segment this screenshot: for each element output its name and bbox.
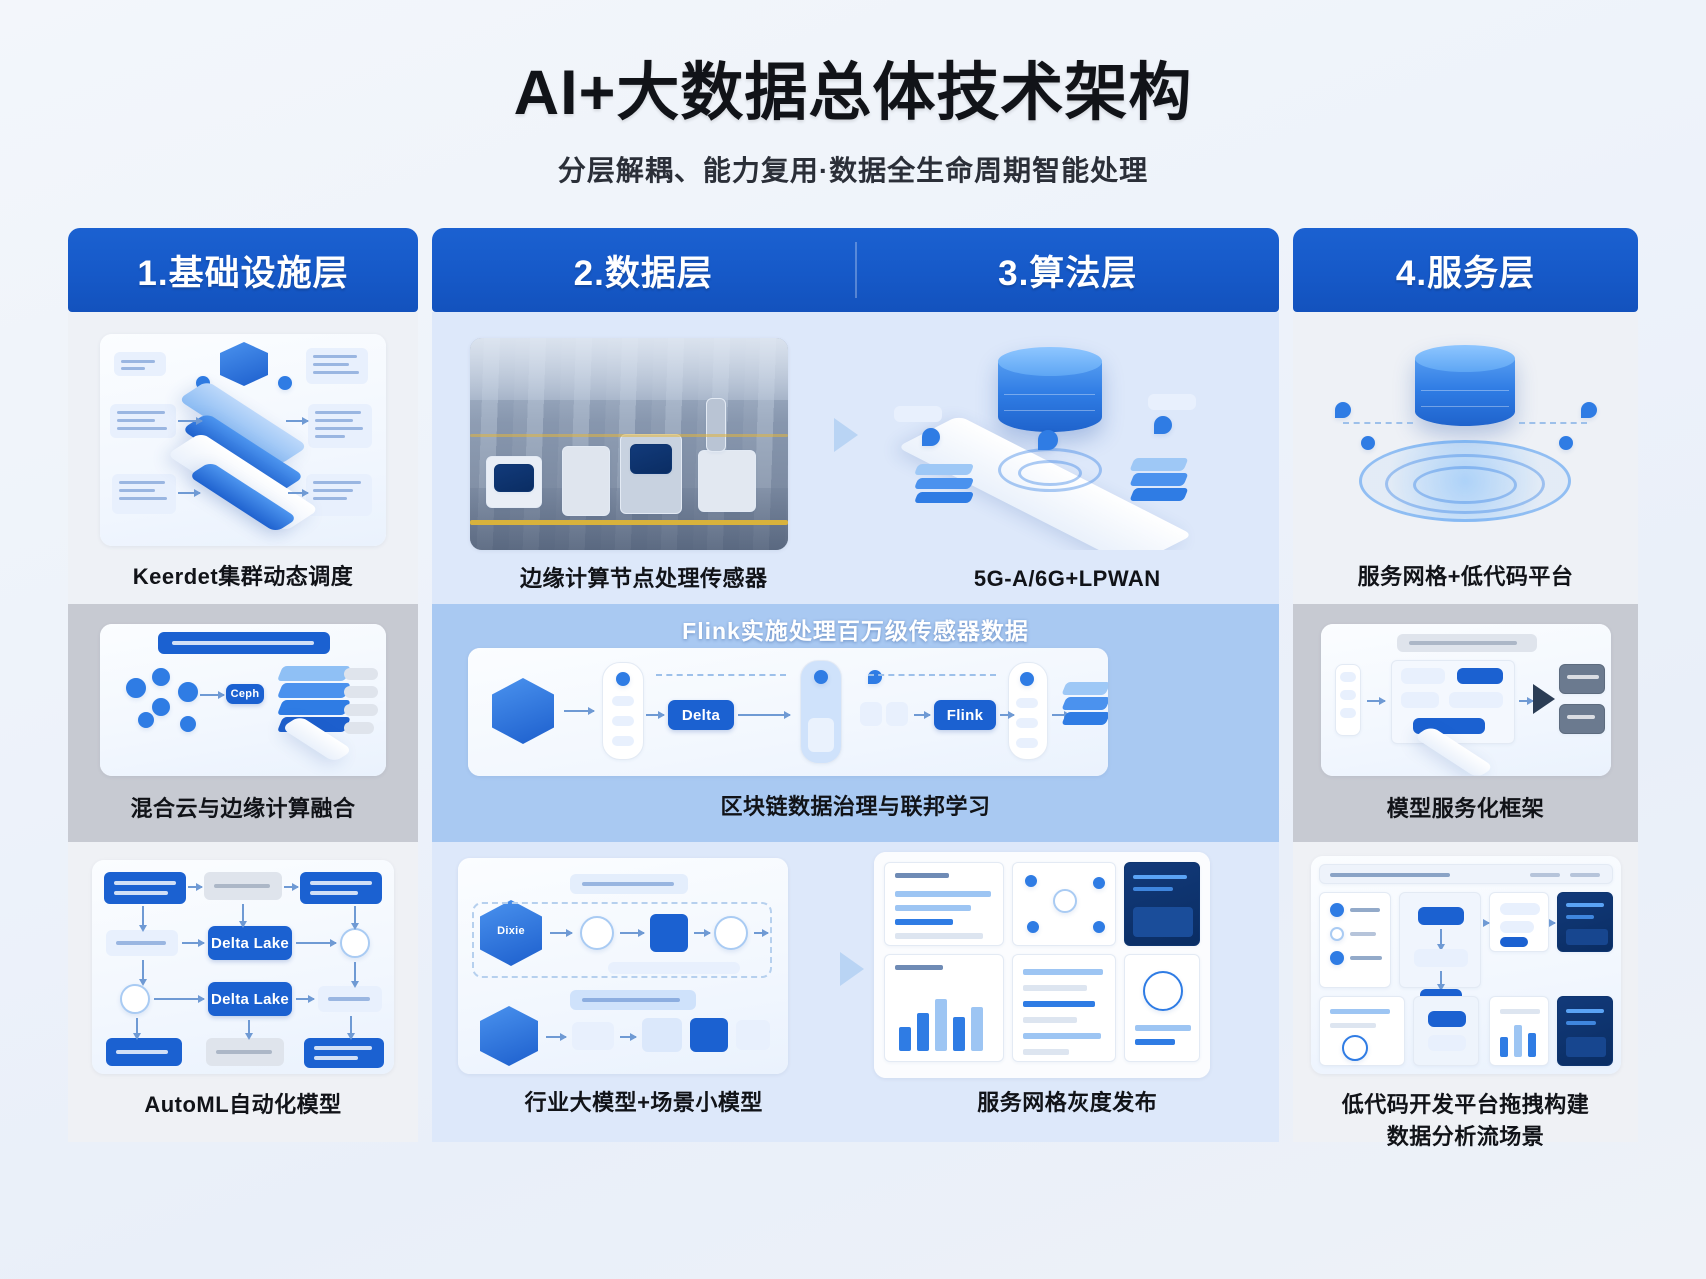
caption-algorithm-row1: 5G-A/6G+LPWAN [856, 562, 1280, 595]
illustration-label-flink: Flink [934, 700, 996, 730]
cell-infrastructure-row3: Delta Lake Delta Lake [68, 842, 418, 1142]
cell-data-row1: 边缘计算节点处理传感器 [432, 312, 856, 604]
column-service: 服务网格+低代码平台 [1293, 312, 1638, 1142]
layer-header-infrastructure[interactable]: 1.基础设施层 [68, 228, 418, 312]
cell-service-row2: 模型服务化框架 [1293, 604, 1638, 842]
cell-data-row3: Dixie [432, 842, 856, 1142]
illustration-label-delta: Delta [668, 700, 734, 730]
illustration-model-serving-framework [1321, 624, 1611, 776]
cell-middle-row2: Flink实施处理百万级传感器数据 Delta [432, 604, 1279, 842]
cell-service-row3: 低代码开发平台拖拽构建 数据分析流场景 [1293, 842, 1638, 1142]
caption-data-row1: 边缘计算节点处理传感器 [432, 562, 856, 595]
illustration-hybrid-cloud-edge: Ceph [100, 624, 386, 776]
illustration-industry-large-model: Dixie [458, 858, 788, 1074]
layer-header-service[interactable]: 4.服务层 [1293, 228, 1638, 312]
column-data-algorithm: 边缘计算节点处理传感器 [432, 312, 1279, 1142]
caption-service-row3-line1: 低代码开发平台拖拽构建 [1293, 1088, 1638, 1121]
architecture-poster: AI+大数据总体技术架构 分层解耦、能力复用·数据全生命周期智能处理 1.基础设… [0, 0, 1706, 1279]
banner-flink: Flink实施处理百万级传感器数据 [432, 612, 1279, 646]
layer-header-middle: 2.数据层 3.算法层 [432, 228, 1279, 312]
layer-header-data-label: 2.数据层 [574, 245, 713, 296]
caption-infrastructure-row2: 混合云与边缘计算融合 [68, 792, 418, 825]
caption-service-row2: 模型服务化框架 [1293, 792, 1638, 825]
cell-infrastructure-row2: Ceph 混合云与边缘计算融合 [68, 604, 418, 842]
illustration-label-delta-lake-1: Delta Lake [208, 926, 292, 960]
layer-header-algorithm-label: 3.算法层 [998, 245, 1137, 296]
illustration-5g-network-core [880, 332, 1210, 550]
layer-header-data[interactable]: 2.数据层 [432, 228, 855, 312]
caption-middle-row2: 区块链数据治理与联邦学习 [432, 790, 1279, 823]
caption-data-row3: 行业大模型+场景小模型 [432, 1086, 856, 1119]
cell-middle-row3: Dixie [432, 842, 1279, 1142]
page-title: AI+大数据总体技术架构 [0, 58, 1706, 129]
cell-middle-row1: 边缘计算节点处理传感器 [432, 312, 1279, 604]
illustration-blockchain-federated-pipeline: Delta Flink [468, 648, 1108, 776]
illustration-service-mesh-dashboard [874, 852, 1210, 1078]
layer-header-service-label: 4.服务层 [1396, 245, 1535, 296]
cell-service-row1: 服务网格+低代码平台 [1293, 312, 1638, 604]
flow-arrow-data-to-algorithm [834, 418, 858, 452]
illustration-automl-flowchart: Delta Lake Delta Lake [92, 860, 394, 1074]
cell-algorithm-row1: 5G-A/6G+LPWAN [856, 312, 1280, 604]
illustration-lowcode-drag-drop-platform [1311, 856, 1621, 1074]
cell-algorithm-row3: 服务网格灰度发布 [856, 842, 1280, 1142]
layer-body-grid: Keerdet集群动态调度 [68, 312, 1638, 1142]
illustration-service-mesh-lowcode [1313, 332, 1618, 548]
caption-algorithm-row3: 服务网格灰度发布 [856, 1086, 1280, 1119]
flow-arrow-model-to-dashboard [840, 952, 864, 986]
layer-header-row: 1.基础设施层 2.数据层 3.算法层 4.服务层 [68, 228, 1638, 312]
layer-header-algorithm[interactable]: 3.算法层 [857, 228, 1280, 312]
page-subtitle: 分层解耦、能力复用·数据全生命周期智能处理 [0, 149, 1706, 189]
poster-header: AI+大数据总体技术架构 分层解耦、能力复用·数据全生命周期智能处理 [0, 0, 1706, 189]
column-infrastructure: Keerdet集群动态调度 [68, 312, 418, 1142]
layer-header-infrastructure-label: 1.基础设施层 [137, 245, 348, 296]
caption-infrastructure-row3: AutoML自动化模型 [68, 1088, 418, 1121]
illustration-label-ceph: Ceph [226, 684, 264, 704]
caption-service-row1: 服务网格+低代码平台 [1293, 560, 1638, 593]
caption-infrastructure-row1: Keerdet集群动态调度 [68, 560, 418, 593]
illustration-factory-edge-nodes [470, 338, 788, 550]
illustration-k8s-scheduling [100, 334, 386, 546]
caption-service-row3-line2: 数据分析流场景 [1293, 1120, 1638, 1153]
illustration-label-delta-lake-2: Delta Lake [208, 982, 292, 1016]
cell-infrastructure-row1: Keerdet集群动态调度 [68, 312, 418, 604]
